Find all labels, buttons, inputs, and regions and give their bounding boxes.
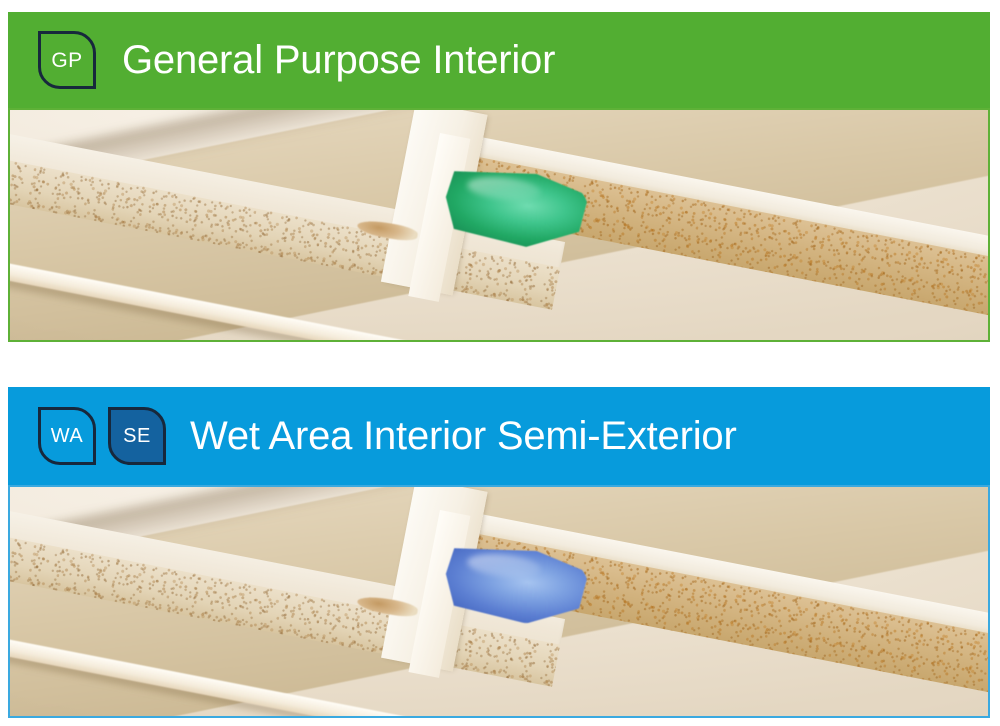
badge-group-general-purpose: GP	[38, 31, 96, 89]
panel-title-general-purpose: General Purpose Interior	[122, 40, 555, 80]
badge-se-label: SE	[123, 426, 151, 446]
badge-wa-label: WA	[51, 426, 83, 446]
badge-wa[interactable]: WA	[38, 407, 96, 465]
panel-header-wet-area: WA SE Wet Area Interior Semi-Exterior	[8, 387, 990, 485]
product-photo-wet-area	[8, 485, 990, 718]
product-photo-general-purpose	[8, 108, 990, 342]
panel-header-general-purpose: GP General Purpose Interior	[8, 12, 990, 108]
photo-scene-green	[10, 110, 988, 340]
panel-general-purpose: GP General Purpose Interior	[8, 12, 990, 342]
adhesive-bead-green	[442, 165, 591, 253]
panel-wet-area: WA SE Wet Area Interior Semi-Exterior	[8, 387, 990, 718]
photo-scene-blue	[10, 487, 988, 716]
adhesive-bead-blue	[442, 542, 591, 630]
page-root: GP General Purpose Interior	[0, 0, 1000, 726]
adhesive-bead-body	[442, 165, 591, 253]
badge-se[interactable]: SE	[108, 407, 166, 465]
panel-title-wet-area: Wet Area Interior Semi-Exterior	[190, 416, 737, 456]
badge-gp-label: GP	[51, 50, 82, 71]
adhesive-bead-body	[442, 542, 591, 630]
badge-gp[interactable]: GP	[38, 31, 96, 89]
badge-group-wet-area: WA SE	[38, 407, 166, 465]
